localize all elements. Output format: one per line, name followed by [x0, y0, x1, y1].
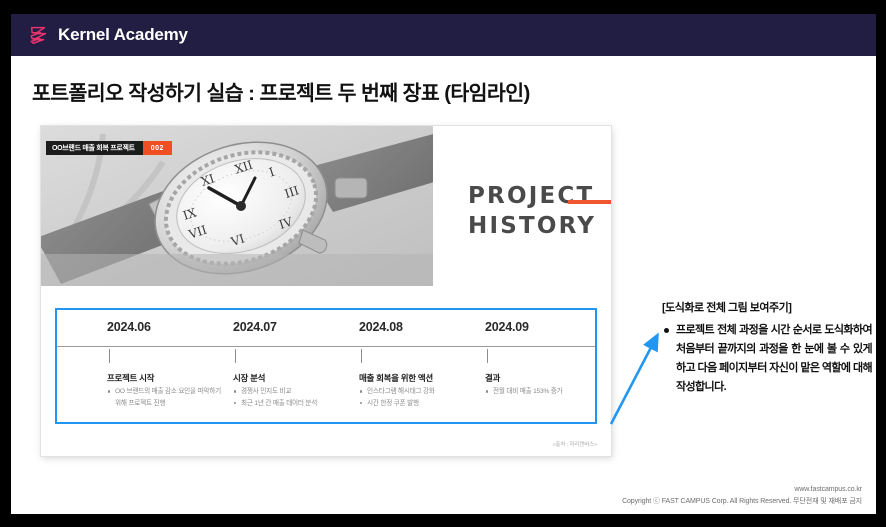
slide-page: 포트폴리오 작성하기 실습 : 프로젝트 두 번째 장표 (타임라인) [11, 56, 876, 514]
annotation-panel: [도식화로 전체 그림 보여주기] 프로젝트 전체 과정을 시간 순서로 도식화… [662, 299, 872, 397]
timeline-date: 2024.08 [359, 320, 403, 334]
timeline-heading: 시장 분석 [233, 372, 265, 384]
footer-url: www.fastcampus.co.kr [622, 486, 862, 493]
project-tag-label: OO브랜드 매출 회복 프로젝트 [46, 141, 143, 155]
timeline-items: 전월 대비 매출 153% 증가 [485, 386, 603, 398]
timeline-date: 2024.09 [485, 320, 529, 334]
timeline-date: 2024.06 [107, 320, 151, 334]
timeline-tick [235, 349, 236, 363]
annotation-heading: [도식화로 전체 그림 보여주기] [662, 299, 872, 315]
timeline-item: 전월 대비 매출 153% 증가 [485, 386, 603, 398]
timeline-item: 시간 한정 쿠폰 발행 [359, 398, 477, 410]
timeline-items: OO 브랜드의 매출 감소 요인을 파악하기 위해 프로젝트 진행 [107, 386, 225, 409]
timeline-date: 2024.07 [233, 320, 277, 334]
timeline-items: 경쟁사 인지도 비교 최근 1년 간 매출 데이터 분석 [233, 386, 351, 409]
project-tag-number: 002 [143, 141, 172, 155]
project-history-line2: HISTORY [468, 213, 596, 239]
wristwatch-photo: XII III VI IX I XI IV VII [41, 126, 433, 286]
timeline-heading: 프로젝트 시작 [107, 372, 154, 384]
footer-copyright: Copyright ⓒ FAST CAMPUS Corp. All Rights… [622, 496, 862, 506]
timeline-items: 인스타그램 해시태그 강화 시간 한정 쿠폰 발행 [359, 386, 477, 409]
timeline-tick [361, 349, 362, 363]
kernel-logo-icon [28, 24, 50, 46]
timeline-item: 인스타그램 해시태그 강화 [359, 386, 477, 398]
source-note: «출처 : 미리캔버스» [552, 440, 597, 448]
brand-name: Kernel Academy [58, 25, 188, 45]
project-history-title: PROJECTHISTORY [468, 181, 596, 242]
portfolio-slide: XII III VI IX I XI IV VII [41, 126, 611, 456]
page-footer: www.fastcampus.co.kr Copyright ⓒ FAST CA… [622, 486, 862, 506]
timeline-item: 경쟁사 인지도 비교 [233, 386, 351, 398]
timeline-heading: 매출 회복을 위한 액션 [359, 372, 433, 384]
timeline-item: OO 브랜드의 매출 감소 요인을 파악하기 위해 프로젝트 진행 [107, 386, 225, 409]
project-tag: OO브랜드 매출 회복 프로젝트 002 [46, 141, 172, 155]
accent-rule [568, 200, 611, 204]
project-history-block: PROJECTHISTORY [433, 126, 611, 286]
timeline-axis [57, 346, 595, 347]
timeline-item: 최근 1년 간 매출 데이터 분석 [233, 398, 351, 410]
timeline-tick [109, 349, 110, 363]
screen-root: Kernel Academy 포트폴리오 작성하기 실습 : 프로젝트 두 번째… [0, 0, 886, 527]
timeline-tick [487, 349, 488, 363]
timeline-heading: 결과 [485, 372, 500, 384]
page-title: 포트폴리오 작성하기 실습 : 프로젝트 두 번째 장표 (타임라인) [32, 76, 530, 106]
project-history-line1: PROJECT [468, 183, 594, 209]
app-header: Kernel Academy [11, 14, 876, 56]
timeline-box: 2024.06 프로젝트 시작 OO 브랜드의 매출 감소 요인을 파악하기 위… [55, 308, 597, 424]
annotation-body: 프로젝트 전체 과정을 시간 순서로 도식화하여 처음부터 끝까지의 과정을 한… [662, 321, 872, 397]
